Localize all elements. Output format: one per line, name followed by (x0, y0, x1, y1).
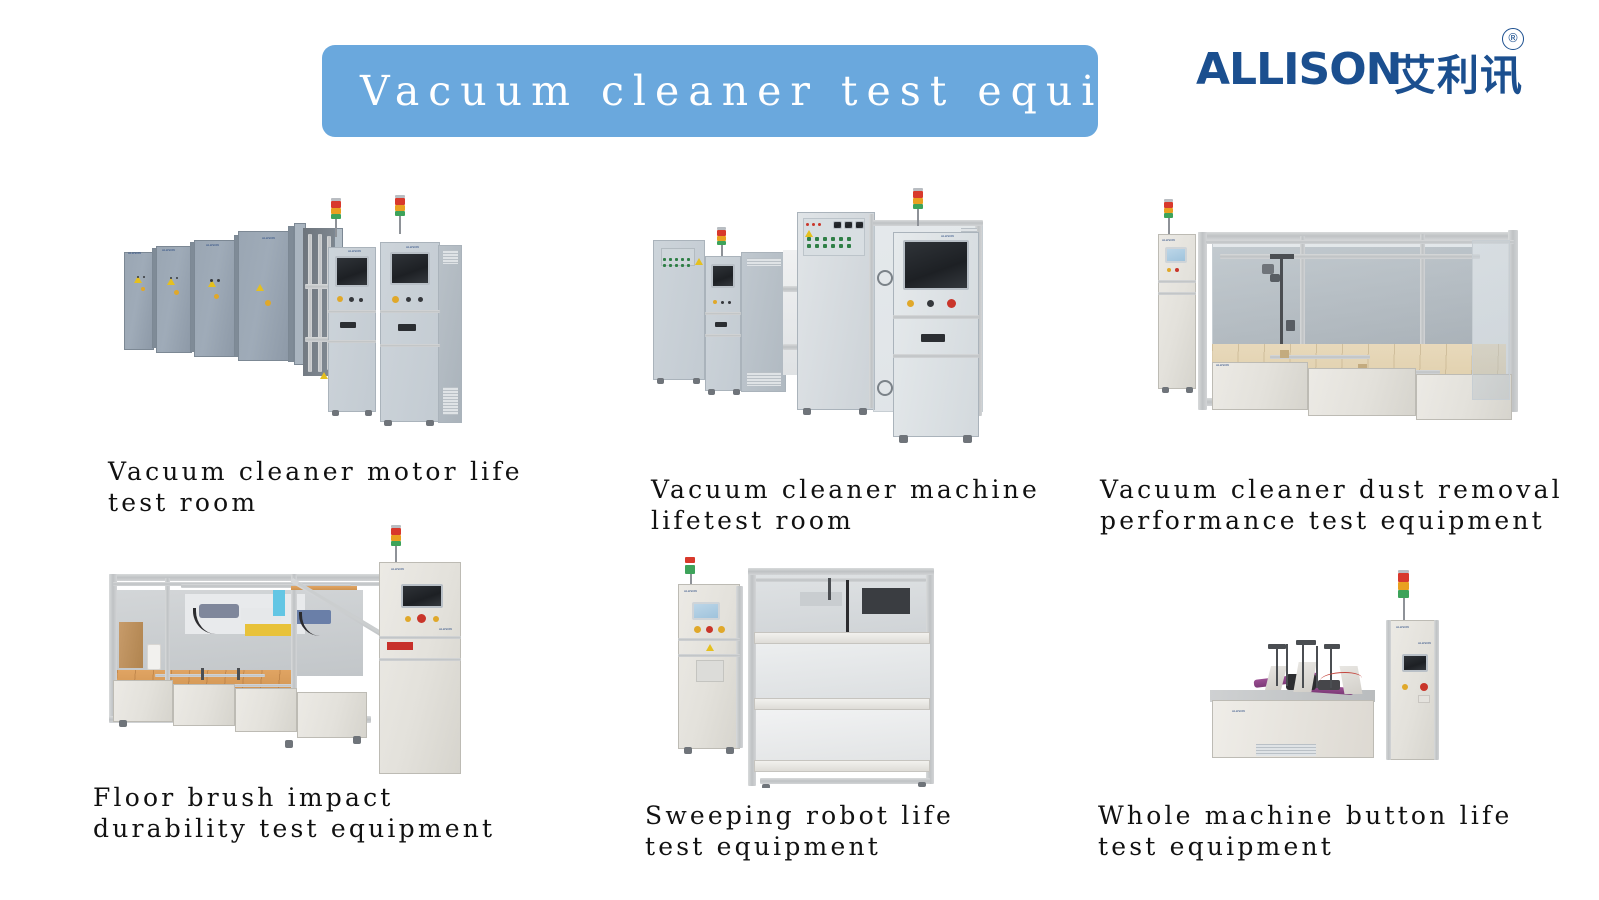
product-photo-motor-life-test-room: ALLISON ALLISON ALLISON ALLISON ALLISON (110, 192, 482, 440)
page-title: Vacuum cleaner test equipment (322, 67, 1281, 115)
company-logo: ALLISON 艾利讯 ® (1196, 28, 1526, 100)
logo-wordmark: ALLISON (1196, 44, 1401, 95)
logo-wordmark-chinese: 艾利讯 (1394, 42, 1523, 103)
product-caption-machine-lifetest-room: Vacuum cleaner machine lifetest room (651, 474, 1081, 536)
product-photo-machine-lifetest-room: ALLISON (645, 182, 1005, 450)
product-caption-motor-life-test-room: Vacuum cleaner motor life test room (108, 456, 608, 518)
product-caption-whole-machine-button-life: Whole machine button life test equipment (1098, 800, 1578, 862)
registered-trademark-icon: ® (1502, 28, 1524, 50)
product-photo-sweeping-robot-life: ALLISON (650, 548, 940, 788)
product-photo-floor-brush-impact: ALLISON ALLISON (95, 512, 485, 774)
product-caption-sweeping-robot-life: Sweeping robot life test equipment (645, 800, 1045, 862)
product-catalog-page: Vacuum cleaner test equipment ALLISON 艾利… (0, 0, 1599, 900)
page-title-banner: Vacuum cleaner test equipment (322, 45, 1098, 137)
product-caption-floor-brush-impact: Floor brush impact durability test equip… (93, 782, 563, 844)
product-photo-whole-machine-button-life: ALLISON (1190, 562, 1440, 762)
product-photo-dust-removal-performance: ALLISON (1120, 192, 1520, 442)
product-caption-dust-removal-performance: Vacuum cleaner dust removal performance … (1100, 474, 1580, 536)
